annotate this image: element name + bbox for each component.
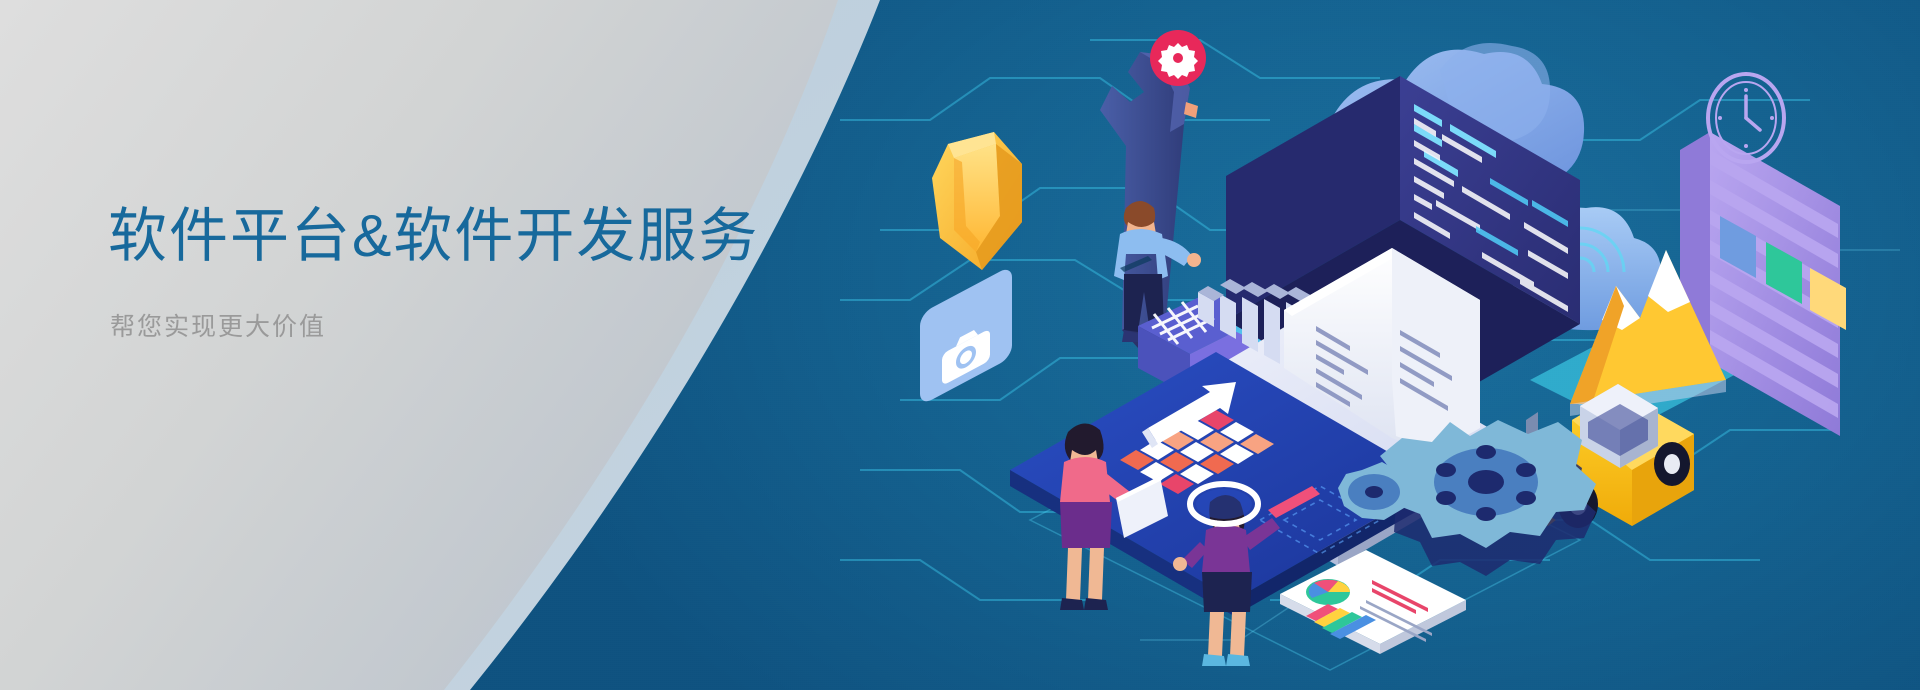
hero-text-block: 软件平台&软件开发服务 帮您实现更大价值 <box>108 205 828 343</box>
hero-banner: 软件平台&软件开发服务 帮您实现更大价值 <box>0 0 1920 690</box>
page-subtitle: 帮您实现更大价值 <box>110 307 828 343</box>
page-title: 软件平台&软件开发服务 <box>108 205 828 269</box>
background-curve-divider <box>0 0 1920 690</box>
